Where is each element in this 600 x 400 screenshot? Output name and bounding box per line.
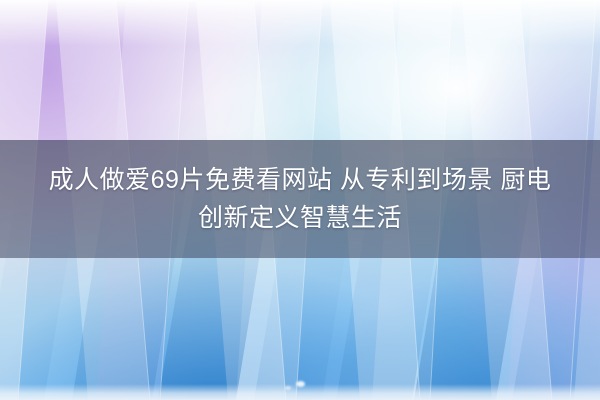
promo-banner: 成人做爱69片免费看网站 从专利到场景 厨电 创新定义智慧生活 — [0, 0, 600, 400]
caption-line-2: 创新定义智慧生活 — [198, 199, 402, 237]
caption-band: 成人做爱69片免费看网站 从专利到场景 厨电 创新定义智慧生活 — [0, 140, 600, 258]
background-top-highlight — [0, 0, 600, 46]
caption-line-1: 成人做爱69片免费看网站 从专利到场景 厨电 — [49, 161, 552, 199]
background-bottom-wash — [0, 384, 600, 400]
